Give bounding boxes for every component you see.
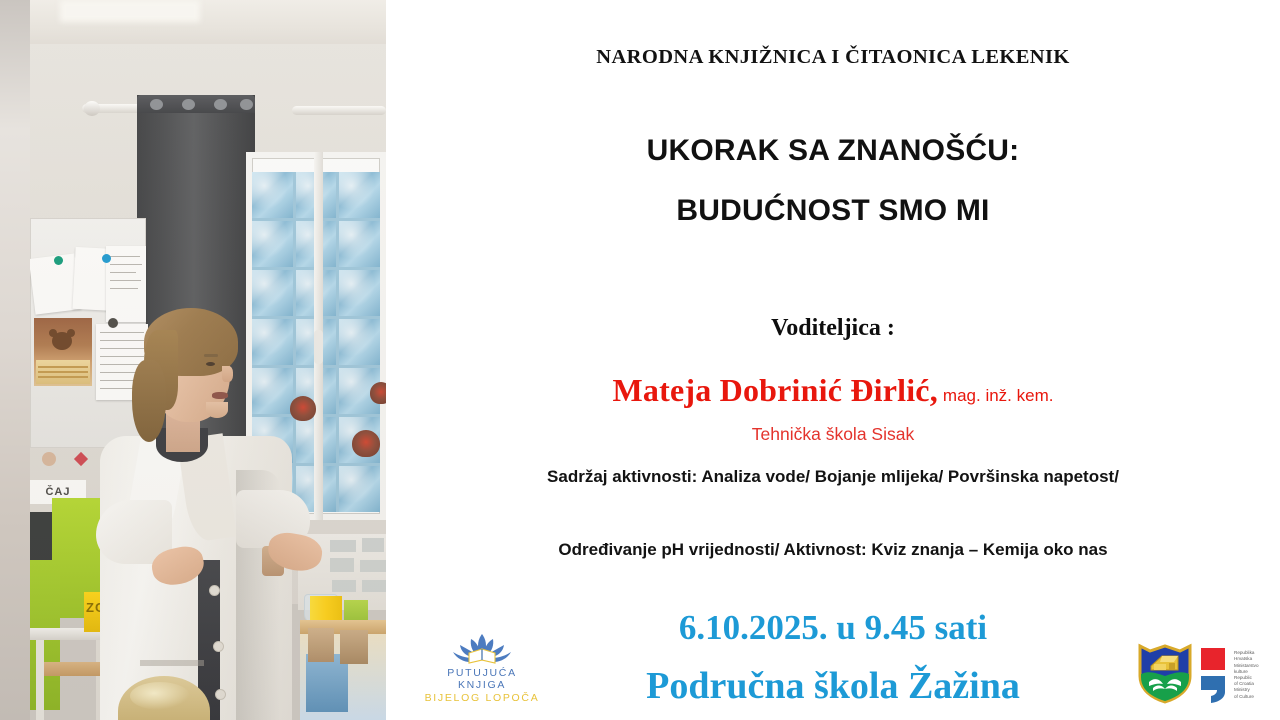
poster-content: NARODNA KNJIŽNICA I ČITAONICA LEKENIK UK…: [386, 0, 1280, 720]
photo-woman-chin: [206, 402, 228, 418]
photo-coat-button: [214, 642, 223, 651]
putujuca-knjiga-logo: PUTUJUĆA KNJIGA BIJELOG LOPOČA: [422, 632, 542, 712]
leader-school: Tehnička škola Sisak: [386, 424, 1280, 445]
photo-board-paper: [106, 246, 146, 322]
photo-coat-button: [210, 586, 219, 595]
photo-cardboard-tube: [308, 628, 334, 662]
leader-name: Mateja Dobrinić Đirlić,: [613, 372, 938, 408]
leader-degree: mag. inž. kem.: [943, 386, 1054, 405]
photo-curtain-rod-right: [292, 106, 386, 115]
main-title-line-2: BUDUĆNOST SMO MI: [386, 194, 1280, 228]
ministry-logos-group: Republika Hrvatska Ministarstvo kulture …: [1136, 638, 1276, 712]
photo-wall-picture: [332, 580, 356, 592]
photo-mushroom-decoration: [352, 430, 380, 457]
photo-woman-nose: [222, 366, 233, 382]
photo-curtain-grommet: [240, 99, 253, 110]
photo-wall-picture: [362, 538, 384, 552]
activity-line-2: Određivanje pH vrijednosti/ Aktivnost: K…: [480, 535, 1186, 564]
photo-child-hair-highlight: [130, 682, 190, 710]
photo-magnet: [102, 254, 111, 263]
photo-woman-eye: [206, 362, 215, 366]
poster-root: ČАЈ ZONE: [0, 0, 1280, 720]
photo-curtain-grommet: [214, 99, 227, 110]
photo-wall-picture: [362, 580, 386, 592]
photo-mushroom-decoration: [290, 396, 316, 421]
photo-wall-picture: [360, 560, 386, 572]
photo-paper-decoration: [42, 452, 56, 466]
photo-wall-picture: [330, 558, 354, 572]
leader-name-row: Mateja Dobrinić Đirlić,mag. inž. kem.: [386, 372, 1280, 409]
photo-cardboard-tube: [340, 630, 368, 664]
photo-mushroom-decoration: [370, 382, 386, 404]
photo-woman-eyebrow: [204, 354, 218, 357]
photo-coat-pocket: [140, 660, 204, 666]
coat-of-arms-shield-icon: [1136, 642, 1194, 709]
photo-curtain-rod-knob: [84, 101, 100, 116]
lotus-logo-line-1: PUTUJUĆA KNJIGA: [422, 667, 542, 691]
organization-title: NARODNA KNJIŽNICA I ČITAONICA LEKENIK: [386, 46, 1280, 69]
main-title-line-1: UKORAK SA ZNANOŠĆU:: [386, 134, 1280, 168]
lotus-book-icon: [422, 632, 542, 666]
photo-ceiling-light: [60, 0, 200, 22]
photo-desk-leg: [36, 640, 44, 720]
photo-left-margin-strip: [0, 0, 30, 720]
photo-coat-button: [216, 690, 225, 699]
ministry-label: Republika Hrvatska Ministarstvo kulture …: [1234, 650, 1259, 700]
photo-window-handle: [314, 330, 323, 364]
photo-keyboard-graphic: [36, 360, 90, 384]
photo-curtain-grommet: [182, 99, 195, 110]
activity-line-1: Sadržaj aktivnosti: Analiza vode/ Bojanj…: [480, 462, 1186, 491]
photo-bear-ear: [67, 329, 75, 337]
photo-curtain-grommet: [150, 99, 163, 110]
photo-bear-ear: [49, 329, 57, 337]
lotus-logo-line-2: BIJELOG LOPOČA: [422, 692, 542, 704]
photo-wall-picture: [330, 540, 356, 552]
croatia-ministry-of-culture-icon: [1201, 646, 1227, 704]
photo-magnet: [54, 256, 63, 265]
photo-woman-mouth: [212, 392, 228, 399]
classroom-photo: ČАЈ ZONE: [0, 0, 386, 720]
photo-woman-ponytail: [132, 360, 166, 442]
photo-magnet: [108, 318, 118, 328]
leader-label: Voditeljica :: [386, 315, 1280, 342]
